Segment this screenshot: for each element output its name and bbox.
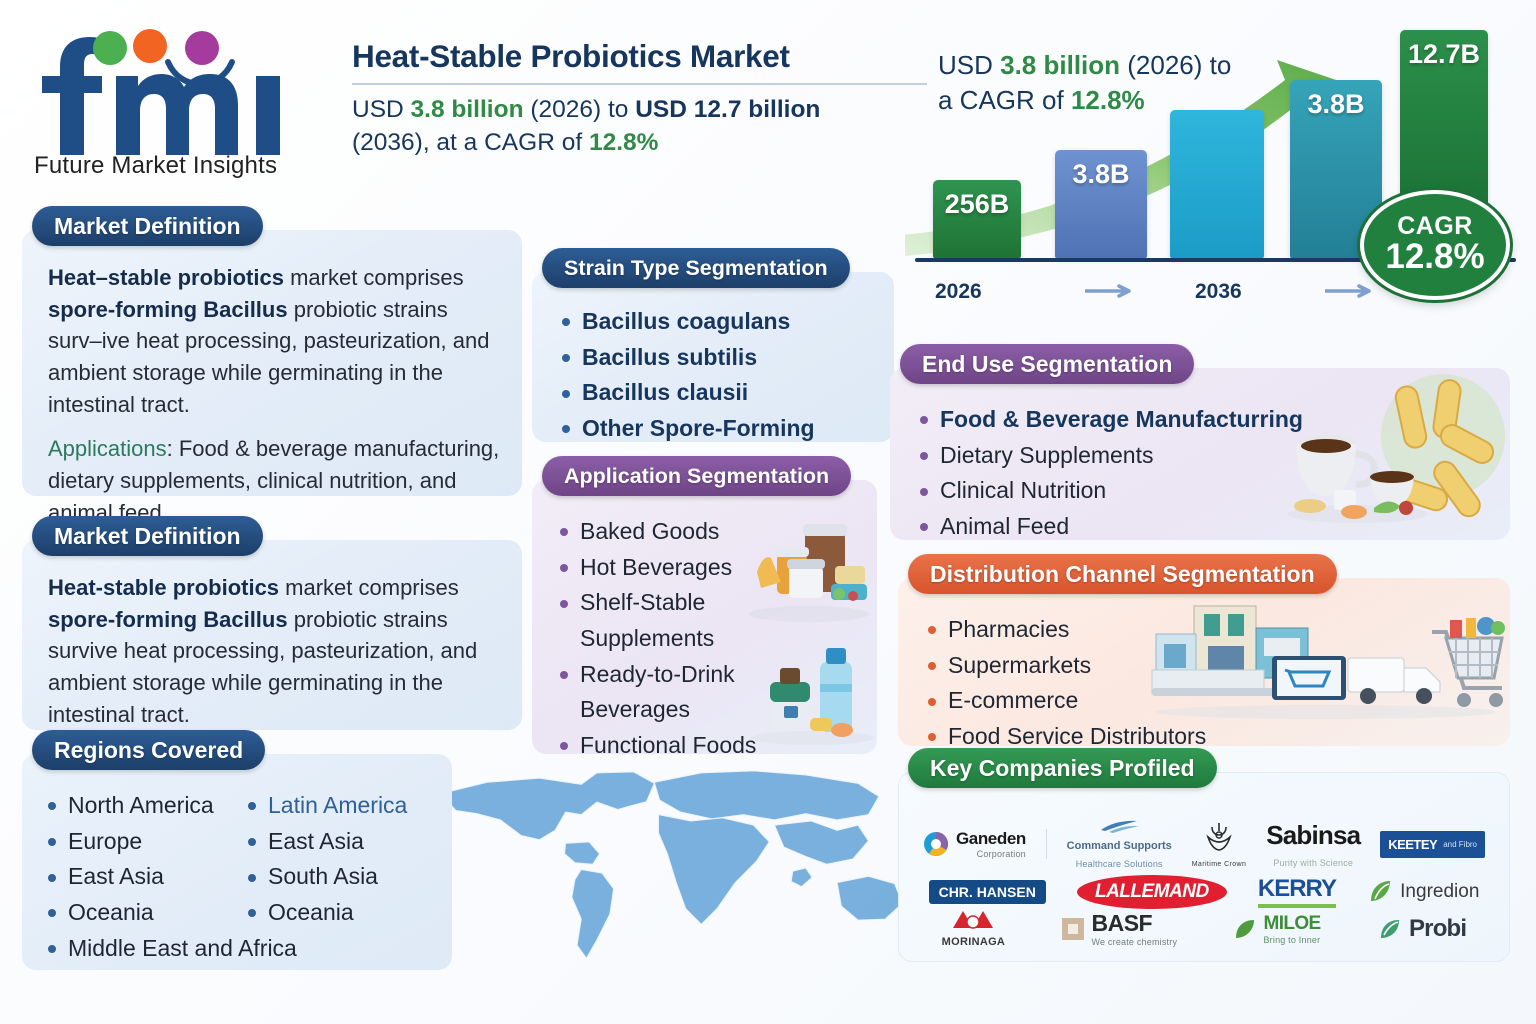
md2-bold-2: spore-forming Bacillus (48, 607, 288, 632)
panel-market-definition-2: Market Definition Heat-stable probiotics… (22, 518, 522, 730)
logo-chr-hansen: CHR. HANSEN (929, 880, 1046, 904)
swoosh-icon (1099, 819, 1139, 833)
bar-2: 3.8B (1055, 150, 1147, 258)
panel-body-companies: Ganeden Corporation Command Supports Hea… (898, 772, 1510, 962)
panel-title-regions: Regions Covered (32, 730, 265, 770)
region-item: South Asia (244, 859, 438, 895)
panel-end-use-segmentation: End Use Segmentation Food & Beverage Man… (890, 346, 1510, 540)
list-item: Bacillus subtilis (558, 340, 878, 376)
md1-paragraph-1: Heat–stable probiotics market comprises … (48, 262, 502, 420)
md1-text-1: market comprises (284, 265, 464, 290)
panel-strain-type: Strain Type Segmentation Bacillus coagul… (532, 250, 894, 442)
logo-keetey: KEETEY and Fibro (1380, 831, 1485, 858)
list-item: Baked Goods (556, 514, 766, 550)
panel-body-market-definition-2: Heat-stable probiotics market comprises … (22, 540, 522, 730)
list-item: Other Spore-Forming (558, 411, 878, 447)
logo-label: Probi (1409, 915, 1466, 943)
panel-regions-covered: Regions Covered North America Europe Eas… (22, 732, 452, 970)
overlay-p2: (2026) to (1120, 50, 1231, 80)
logo-command-supports: Command Supports Healthcare Solutions (1067, 819, 1172, 869)
logo-morinaga: MORINAGA (942, 909, 1006, 948)
logo-label: Maritime Crown (1192, 861, 1247, 868)
logo-ingredion: Ingredion (1367, 879, 1479, 905)
panel-title-application: Application Segmentation (542, 456, 851, 496)
bar-label-4: 12.7B (1408, 39, 1480, 70)
list-item: Hot Beverages (556, 550, 766, 586)
world-map-graphic (400, 752, 940, 987)
panel-title-end-use: End Use Segmentation (900, 344, 1194, 384)
md2-bold-1: Heat-stable probiotics (48, 575, 279, 600)
bar-label-1: 3.8B (1072, 159, 1129, 190)
overlay-value-1: 3.8 billion (1000, 50, 1120, 80)
probi-mark-icon (1378, 917, 1402, 941)
md1-bold-2: spore-forming Bacillus (48, 297, 288, 322)
panel-title-distribution: Distribution Channel Segmentation (908, 554, 1337, 594)
retail-ecommerce-image (1146, 592, 1506, 722)
overlay-value-3: 12.8% (1071, 85, 1145, 115)
regions-full-width: Middle East and Africa (44, 931, 438, 967)
logo-sublabel: Healthcare Solutions (1076, 859, 1163, 869)
progress-arrow-1-icon (1085, 284, 1137, 298)
header-subtitle: USD 3.8 billion (2026) to USD 12.7 billi… (352, 94, 927, 159)
panel-distribution-channel: Distribution Channel Segmentation Pharma… (898, 556, 1510, 746)
logo-label: KEETEY (1388, 837, 1437, 852)
bar-3 (1170, 110, 1264, 258)
x-tick-2026: 2026 (935, 280, 982, 304)
logo-basf: BASF We create chemistry (1062, 910, 1177, 947)
basf-square-icon (1062, 918, 1084, 940)
overlay-p1: USD (938, 50, 1000, 80)
logo-maritime-crown: Maritime Crown (1192, 820, 1247, 868)
subtitle-value-3: 12.8% (589, 129, 658, 156)
leaf-icon (1367, 879, 1393, 905)
brand-tagline: Future Market Insights (34, 152, 277, 180)
list-item: Bacillus clausii (558, 375, 878, 411)
cagr-label: CAGR (1397, 214, 1473, 239)
panel-key-companies: Key Companies Profiled Ganeden Corporati (898, 750, 1510, 962)
logo-label: Sabinsa (1266, 820, 1360, 851)
supplement-jars-image (743, 514, 873, 624)
md1-bold-1: Heat–stable probiotics (48, 265, 284, 290)
list-item: Bacillus coagulans (558, 304, 878, 340)
logo-sublabel: Corporation (956, 849, 1026, 859)
logo-divider (1046, 829, 1047, 859)
logo-row-1: Ganeden Corporation Command Supports Hea… (913, 815, 1495, 873)
md1-applications-label: Applications (48, 436, 167, 461)
logo-kerry: KERRY (1258, 875, 1336, 908)
subtitle-p2: (2026) to (524, 96, 636, 123)
panel-body-distribution: Pharmacies Supermarkets E-commerce Food … (898, 578, 1510, 746)
region-item: Europe (44, 824, 234, 860)
md1-paragraph-2: Applications: Food & beverage manufactur… (48, 433, 502, 528)
logo-label: Ganeden (956, 829, 1026, 849)
panel-title-market-definition-2: Market Definition (32, 516, 263, 556)
region-item: North America (44, 788, 234, 824)
title-divider (352, 83, 927, 85)
logo-label: MILOE (1263, 913, 1320, 935)
region-item: East Asia (44, 859, 234, 895)
progress-arrow-2-icon (1325, 284, 1377, 298)
morinaga-mark-icon (949, 909, 997, 929)
panel-body-end-use: Food & Beverage Manufacturring Dietary S… (890, 368, 1510, 540)
logo-label: MORINAGA (942, 936, 1006, 948)
panel-title-strain-type: Strain Type Segmentation (542, 248, 850, 288)
list-item: Ready-to-Drink Beverages (556, 657, 766, 728)
panel-body-application: Baked Goods Hot Beverages Shelf-Stable S… (532, 480, 877, 754)
panel-title-market-definition-1: Market Definition (32, 206, 263, 246)
cagr-value: 12.8% (1385, 239, 1484, 276)
logo-label: Command Supports (1067, 840, 1172, 852)
ganeden-mark-icon (923, 831, 949, 857)
panel-application-segmentation: Application Segmentation Baked Goods Hot… (532, 458, 877, 754)
regions-column-right: Latin America East Asia South Asia Ocean… (244, 788, 438, 931)
logo-sublabel: Purity with Science (1273, 858, 1353, 868)
panel-body-regions: North America Europe East Asia Oceania L… (22, 754, 452, 970)
cagr-badge: CAGR 12.8% (1360, 190, 1510, 300)
crest-icon (1202, 820, 1236, 854)
logo-row-3: MORINAGA BASF We create chemistry (913, 910, 1495, 947)
logo-sublabel: and Fibro (1443, 840, 1477, 849)
panel-market-definition-1: Market Definition Heat–stable probiotics… (22, 208, 522, 496)
logo-miloe: MILOE Bring to Inner (1234, 913, 1320, 945)
panel-body-market-definition-1: Heat–stable probiotics market comprises … (22, 230, 522, 496)
chart-overlay-headline: USD 3.8 billion (2026) to a CAGR of 12.8… (938, 48, 1358, 119)
panel-title-companies: Key Companies Profiled (908, 748, 1217, 788)
bar-2026: 256B (933, 180, 1021, 258)
region-item: Oceania (44, 895, 234, 931)
drink-bottle-image (742, 640, 877, 748)
bar-label-0: 256B (945, 189, 1010, 220)
logo-sabinsa: Sabinsa Purity with Science (1266, 820, 1360, 868)
md2-text-1: market comprises (279, 575, 459, 600)
region-item: Latin America (244, 788, 438, 824)
infographic-canvas: Future Market Insights Heat-Stable Probi… (0, 0, 1536, 1024)
logo-label: Ingredion (1400, 881, 1479, 903)
region-item: Middle East and Africa (44, 931, 438, 967)
logo-sublabel: Bring to Inner (1263, 935, 1320, 945)
page-title: Heat-Stable Probiotics Market (352, 38, 927, 75)
logo-sublabel: We create chemistry (1091, 937, 1177, 947)
list-item: Functional Foods (556, 728, 766, 764)
region-item: East Asia (244, 824, 438, 860)
logo-lallemand: LALLEMAND (1077, 875, 1227, 909)
subtitle-value-2: USD 12.7 billion (635, 96, 820, 123)
list-item: Shelf-Stable Supplements (556, 585, 766, 656)
subtitle-value-1: 3.8 billion (411, 96, 524, 123)
company-logo-wall: Ganeden Corporation Command Supports Hea… (899, 807, 1509, 955)
subtitle-p1: USD (352, 96, 411, 123)
regions-column-left: North America Europe East Asia Oceania (44, 788, 234, 931)
region-item: Oceania (244, 895, 438, 931)
leaf-pair-icon (1234, 918, 1256, 940)
x-tick-2036: 2036 (1195, 280, 1242, 304)
logo-row-2: CHR. HANSEN LALLEMAND KERRY Ingredion (913, 873, 1495, 910)
logo-label: BASF (1091, 910, 1177, 937)
logo-label: KERRY (1258, 875, 1336, 903)
logo-probi: Probi (1378, 915, 1466, 943)
header-block: Heat-Stable Probiotics Market USD 3.8 bi… (352, 38, 927, 159)
application-list: Baked Goods Hot Beverages Shelf-Stable S… (556, 514, 766, 763)
md2-paragraph-1: Heat-stable probiotics market comprises … (48, 572, 502, 730)
strain-type-list: Bacillus coagulans Bacillus subtilis Bac… (558, 304, 878, 447)
overlay-p3: a CAGR of (938, 85, 1071, 115)
panel-body-strain-type: Bacillus coagulans Bacillus subtilis Bac… (532, 272, 894, 442)
probiotic-bacteria-coffee-image (1278, 374, 1508, 534)
subtitle-p3: (2036), at a CAGR of (352, 129, 589, 156)
logo-ganeden: Ganeden Corporation (923, 829, 1026, 859)
